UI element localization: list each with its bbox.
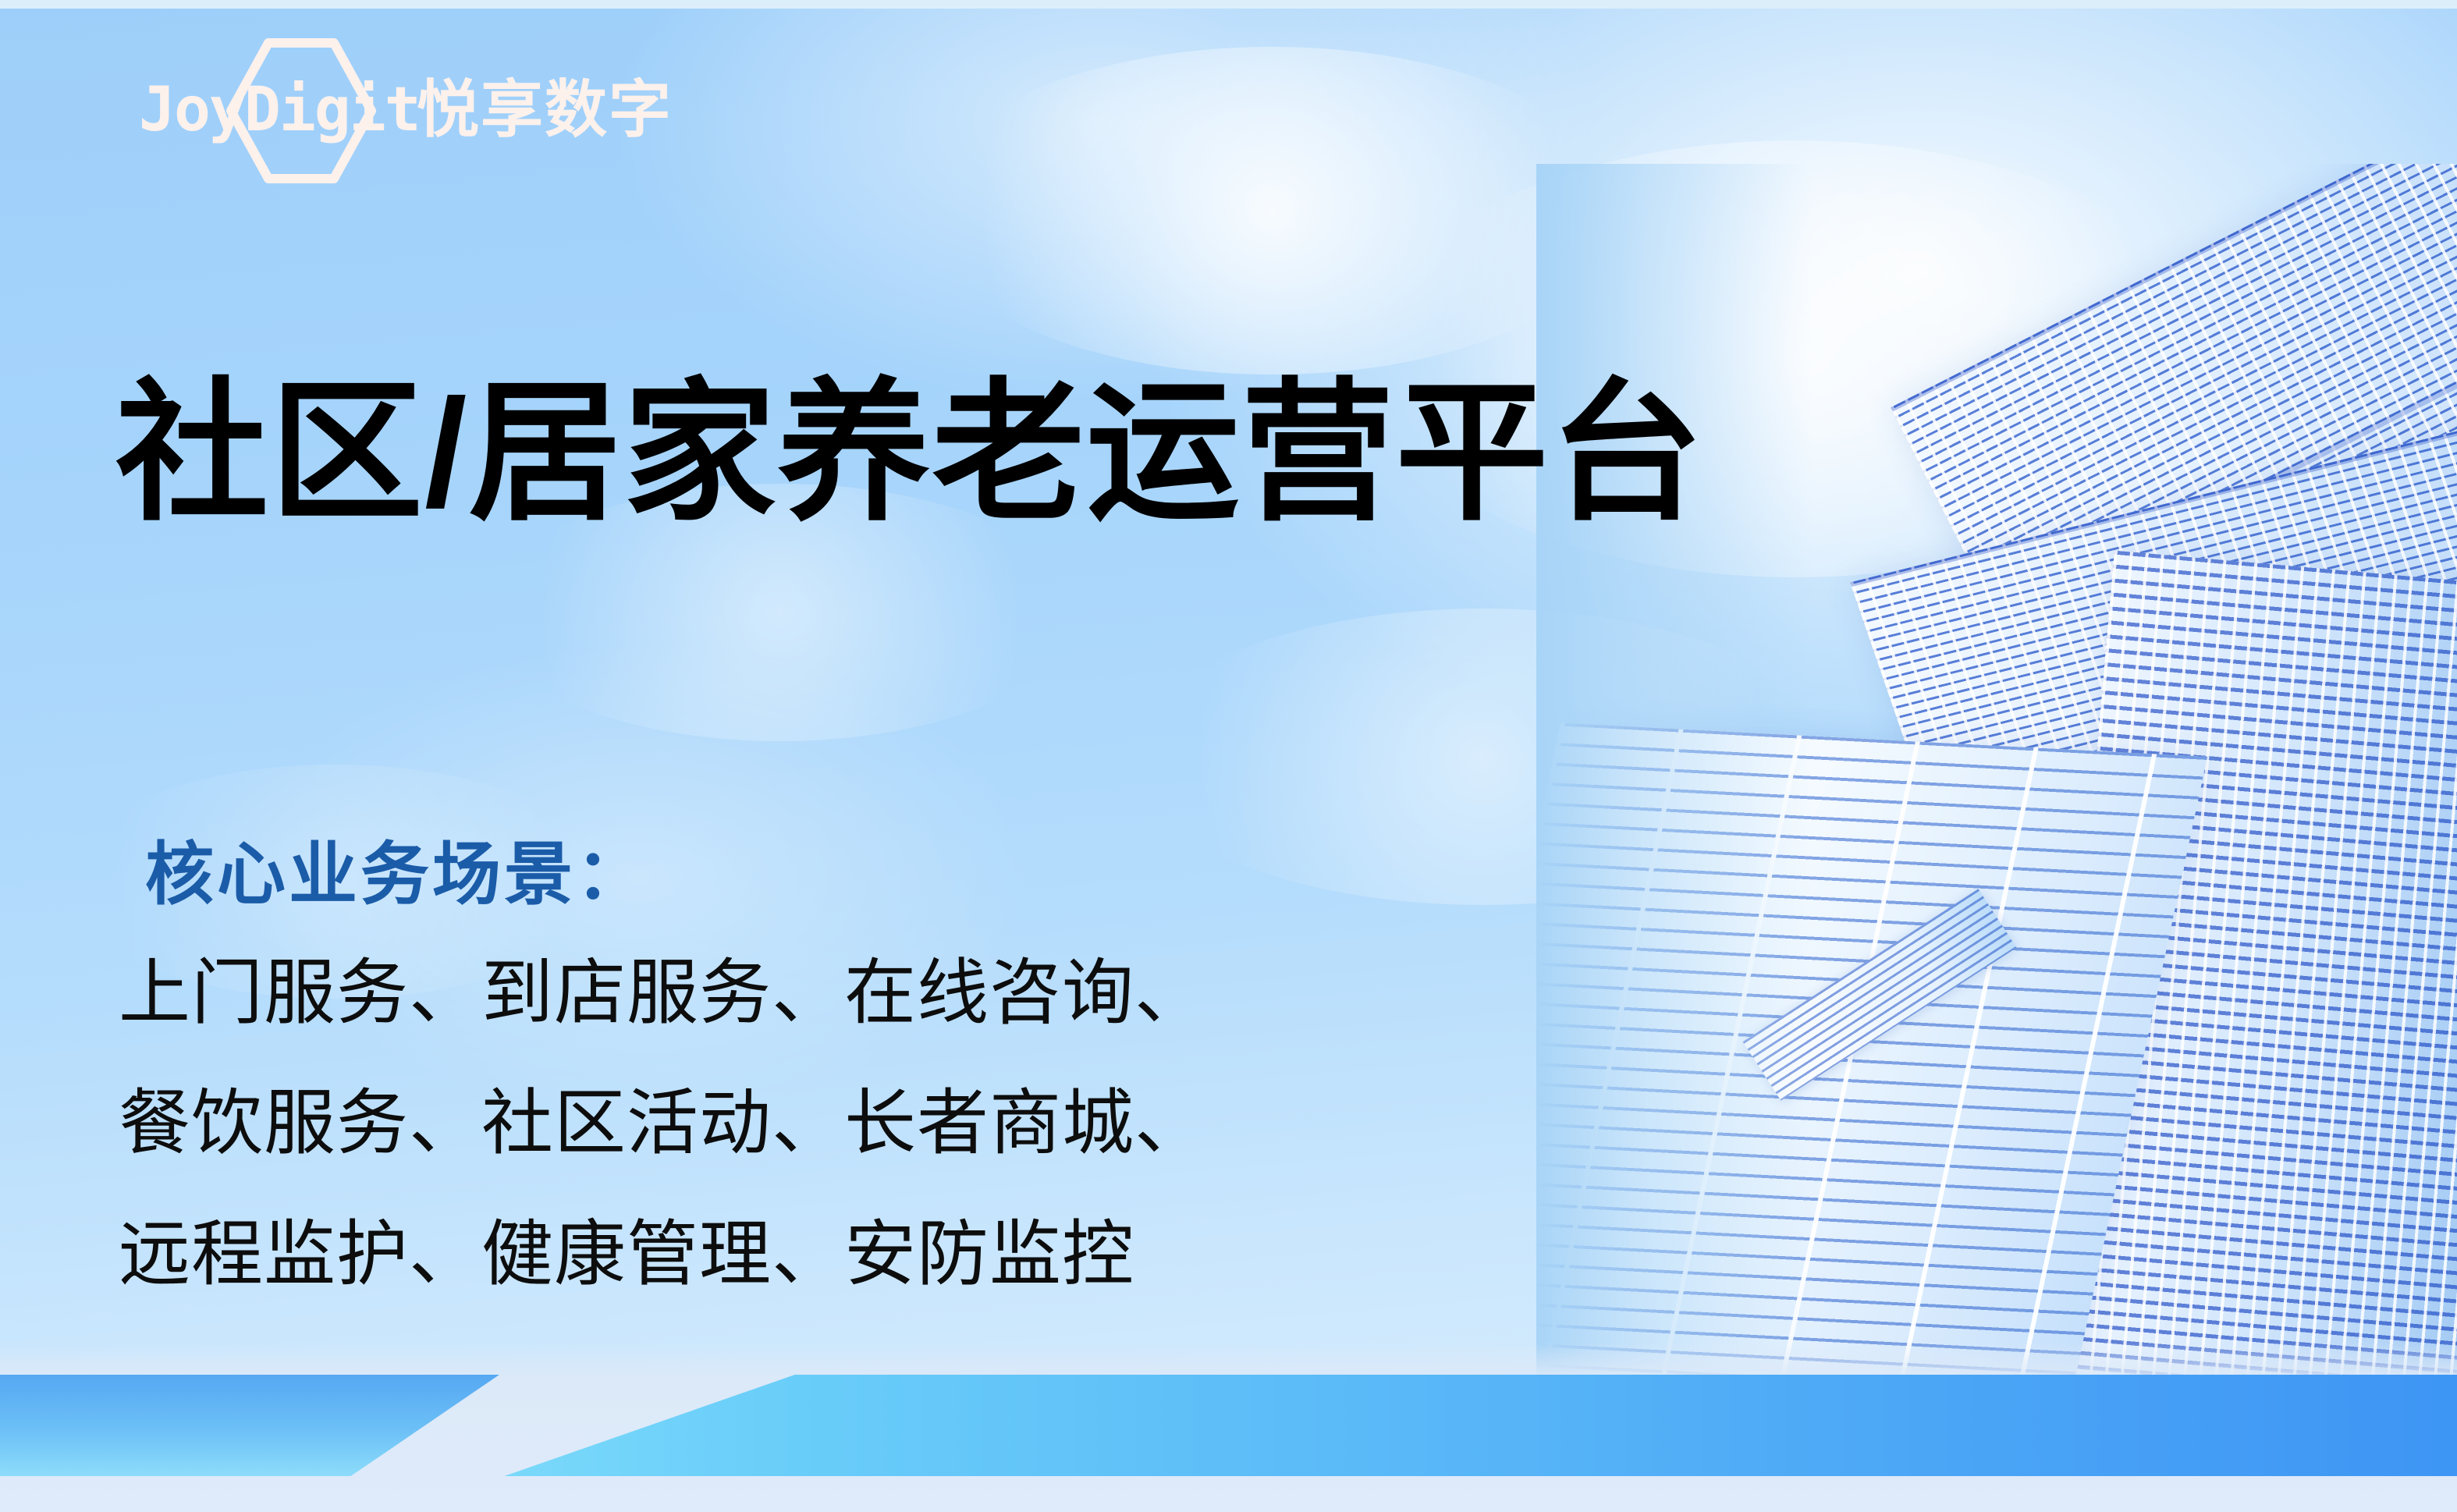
logo-mark: JoyDigit	[139, 68, 396, 152]
slide-canvas: JoyDigit 悦享数字 社区/居家养老运营平台 核心业务场景： 上门服务、到…	[0, 0, 2457, 1512]
scenario-list: 上门服务、到店服务、在线咨询、 餐饮服务、社区活动、长者商城、 远程监护、健康管…	[119, 928, 1207, 1320]
logo-chinese-name: 悦享数字	[417, 79, 673, 141]
top-edge-strip	[0, 0, 2457, 9]
scenario-line: 远程监护、健康管理、安防监控	[119, 1190, 1207, 1320]
section-heading: 核心业务场景：	[145, 837, 648, 913]
scenario-line: 餐饮服务、社区活动、长者商城、	[119, 1059, 1207, 1189]
skyscraper-illustration	[1536, 164, 2457, 1412]
scenario-line: 上门服务、到店服务、在线咨询、	[119, 928, 1207, 1059]
page-title: 社区/居家养老运营平台	[115, 366, 1704, 540]
logo-wordmark: JoyDigit	[139, 80, 420, 140]
brand-logo[interactable]: JoyDigit 悦享数字	[139, 67, 673, 153]
bottom-decor-band	[0, 1342, 2457, 1512]
